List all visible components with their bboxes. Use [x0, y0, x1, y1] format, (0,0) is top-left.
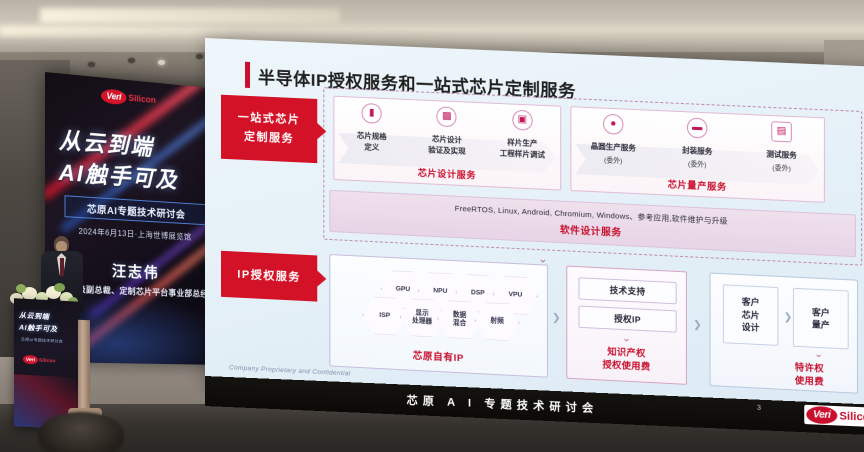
- podium-subtitle: 芯原AI专题技术研讨会: [21, 337, 63, 345]
- verisilicon-logo-podium: Veri Silicon: [23, 355, 55, 366]
- verisilicon-logo-footer: Veri Silicon: [804, 405, 864, 428]
- page-number: 3: [757, 405, 761, 412]
- service-item-label: 芯片规格 定义: [357, 131, 387, 154]
- foliage: [54, 283, 65, 292]
- chevron-down-icon: ⌄: [622, 334, 631, 345]
- licensed-ip-item: 授权IP: [579, 306, 677, 333]
- verisilicon-ip-footer: 芯原自有IP: [330, 343, 547, 368]
- tech-support-licensing-box: 技术支持 授权IP ⌄ 知识产权 授权使用费: [566, 266, 687, 385]
- banner-event-subtitle: 芯原AI专题技术研讨会: [65, 195, 207, 225]
- chevron-right-icon: ❯: [552, 313, 561, 324]
- lectern-stand: [78, 320, 90, 416]
- presenter-tie: [60, 258, 64, 276]
- podium-title-line1: 从云到端: [19, 311, 49, 323]
- logo-word-text: Silicon: [128, 93, 155, 105]
- turnkey-label-line2: 定制服务: [244, 128, 294, 149]
- label-turnkey-chip-service: 一站式芯片 定制服务: [221, 95, 317, 163]
- projected-slide: 半导体IP授权服务和一站式芯片定制服务 一站式芯片 定制服务 IP授权服务 ▮ …: [205, 38, 864, 424]
- ip-hexagon-cluster: GPU NPU DSP VPU ISP 显示 处理器 数据 混合 射频: [359, 269, 531, 344]
- service-item-label: 芯片设计 验证及实现: [428, 134, 465, 157]
- chevron-right-icon: ❯: [784, 313, 793, 324]
- ceiling-light-strip: [40, 8, 340, 23]
- logo-word-text: Silicon: [39, 357, 55, 364]
- foreground-blur-object: [38, 412, 124, 452]
- service-item-sublabel: (委外): [688, 158, 707, 169]
- ceiling-spotlight: [158, 60, 165, 65]
- logo-oval-text: Veri: [101, 88, 127, 105]
- customer-mass-production-card: 客户 量产: [793, 288, 849, 350]
- chevron-right-icon: ❯: [693, 320, 702, 331]
- podium-title-line2: AI触手可及: [19, 323, 58, 335]
- customer-flow-box: 客户 芯片 设计 ❯ 客户 量产 ⌄ 特许权 使用费: [710, 273, 859, 394]
- royalty-fee-label: 特许权 使用费: [760, 359, 859, 391]
- ip-label-text: IP授权服务: [237, 265, 301, 287]
- ceiling-spotlight: [88, 62, 95, 67]
- ip-royalty-fee-label: 知识产权 授权使用费: [567, 343, 686, 375]
- service-item-label: 晶圆生产服务: [591, 141, 636, 154]
- logo-word-text: Silicon: [839, 410, 864, 424]
- logo-oval-text: Veri: [806, 406, 837, 425]
- verisilicon-logo-banner: Veri Silicon: [101, 87, 176, 109]
- ceiling-spotlight: [196, 54, 203, 59]
- service-item-sublabel: (委外): [772, 162, 791, 173]
- package-icon: ▬: [687, 117, 708, 138]
- spec-document-icon: ▮: [362, 103, 382, 124]
- service-item-label: 封装服务: [682, 146, 712, 158]
- service-item-label: 样片生产 工程样片调试: [500, 137, 545, 161]
- label-ip-licensing-service: IP授权服务: [221, 251, 317, 302]
- title-accent-bar: [245, 62, 250, 88]
- customer-chip-design-card: 客户 芯片 设计: [723, 284, 779, 346]
- ceiling-spotlight: [128, 58, 135, 63]
- wafer-icon: ●: [603, 114, 623, 135]
- logo-oval-text: Veri: [23, 355, 38, 365]
- chip-design-service-panel: ▮ 芯片规格 定义 ▩ 芯片设计 验证及实现 ▣ 样片生产 工程样片调试 芯片设…: [333, 96, 561, 191]
- service-item-sublabel: (委外): [604, 154, 623, 165]
- ceiling-light-strip-secondary: [0, 26, 230, 36]
- tech-support-item: 技术支持: [579, 277, 677, 304]
- foliage: [16, 284, 26, 293]
- chip-design-icon: ▩: [437, 106, 457, 127]
- sample-chip-icon: ▣: [512, 110, 532, 131]
- software-design-service-title: 软件设计服务: [560, 222, 622, 239]
- service-item-label: 测试服务: [766, 149, 796, 161]
- chevron-down-icon: ⌄: [814, 350, 823, 361]
- verisilicon-ip-box: GPU NPU DSP VPU ISP 显示 处理器 数据 混合 射频 芯原自有…: [329, 254, 548, 378]
- event-footer-title: 芯原 A I 专题技术研讨会: [407, 392, 599, 416]
- mass-production-service-panel: ● 晶圆生产服务 (委外) ▬ 封装服务 (委外) ▤ 测试服务 (委外): [570, 106, 825, 203]
- test-meter-icon: ▤: [771, 121, 792, 142]
